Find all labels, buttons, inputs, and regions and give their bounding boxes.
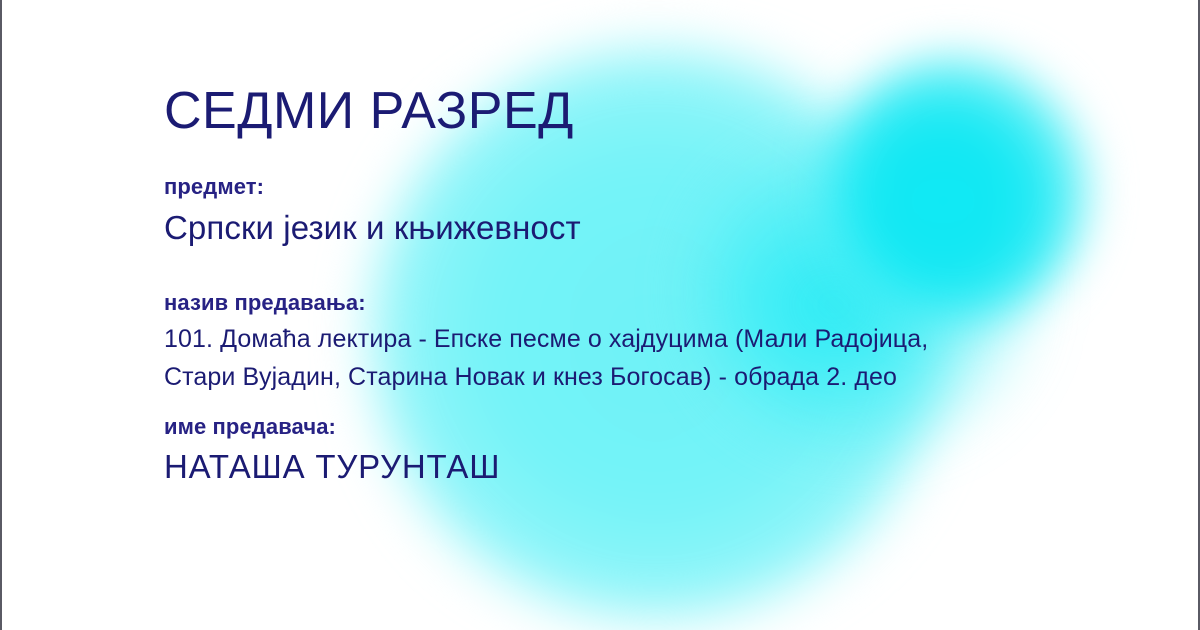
grade-heading: СЕДМИ РАЗРЕД [164, 84, 574, 139]
lecture-field: назив предавања: 101. Домаћа лектира - Е… [164, 288, 1124, 396]
teacher-label: име предавача: [164, 412, 1124, 442]
lecture-value-line-2: Стари Вујадин, Старина Новак и кнез Бого… [164, 358, 1124, 396]
subject-value: Српски језик и књижевност [164, 206, 1124, 250]
teacher-field: име предавача: НАТАША ТУРУНТАШ [164, 412, 1124, 489]
subject-field: предмет: Српски језик и књижевност [164, 172, 1124, 249]
slide-content: СЕДМИ РАЗРЕД предмет: Српски језик и књи… [164, 0, 1164, 630]
subject-label: предмет: [164, 172, 1124, 202]
lesson-title-slide: СЕДМИ РАЗРЕД предмет: Српски језик и књи… [0, 0, 1200, 630]
lecture-label: назив предавања: [164, 288, 1124, 318]
lecture-value: 101. Домаћа лектира - Епске песме о хајд… [164, 320, 1124, 396]
lecture-value-line-1: 101. Домаћа лектира - Епске песме о хајд… [164, 320, 1124, 358]
teacher-name-value: НАТАША ТУРУНТАШ [164, 446, 1124, 489]
